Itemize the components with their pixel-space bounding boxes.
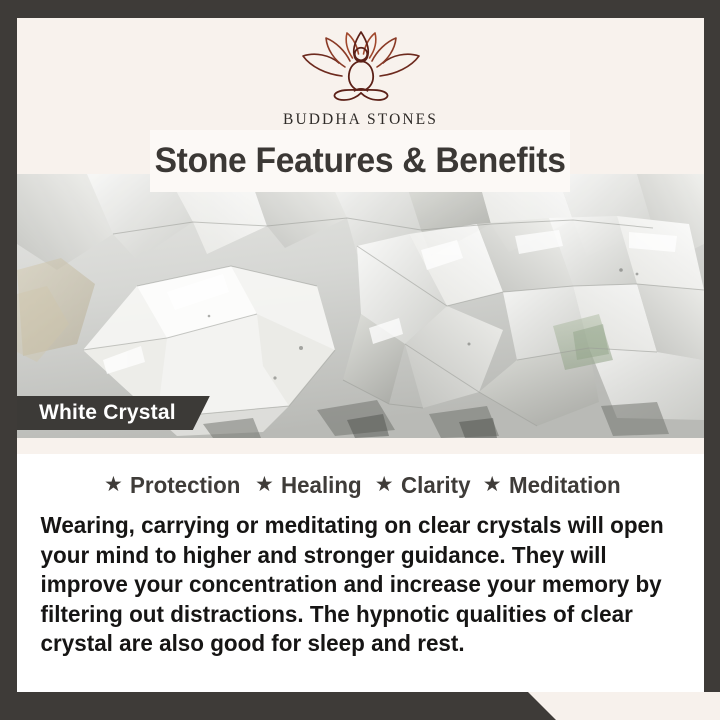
lotus-meditation-figure-icon [286,30,436,108]
star-icon: ★ [375,474,394,495]
white-crystal-cluster-photo: White Crystal [17,174,704,438]
photo-body-divider [17,438,704,454]
frame-left-decoration [0,0,17,720]
description-text: Wearing, carrying or meditating on clear… [31,511,686,659]
star-icon: ★ [104,474,123,495]
frame-right-decoration [704,0,720,720]
content-card: BUDDHA STONES Stone Features & Benefits [17,18,704,692]
stone-name-label: White Crystal [39,401,176,425]
benefit-item: ★ Healing [246,472,366,499]
frame-top-decoration [0,0,720,18]
star-icon: ★ [483,474,502,495]
benefits-body-panel: ★ Protection ★ Healing ★ Clarity ★ Medit… [17,454,704,692]
benefit-label: Clarity [401,472,470,499]
benefit-label: Protection [130,472,240,499]
benefit-label: Healing [281,472,362,499]
benefit-item: ★ Protection [95,472,246,499]
star-icon: ★ [255,474,274,495]
section-title-band: Stone Features & Benefits [150,130,570,192]
page-title: Stone Features & Benefits [154,141,565,181]
infographic-page: BUDDHA STONES Stone Features & Benefits [0,0,720,720]
stone-name-banner: White Crystal [17,396,210,430]
benefit-item: ★ Clarity [366,472,474,499]
brand-name: BUDDHA STONES [283,111,438,129]
benefit-label: Meditation [509,472,621,499]
benefit-item: ★ Meditation [474,472,626,499]
benefits-list: ★ Protection ★ Healing ★ Clarity ★ Medit… [31,472,690,499]
